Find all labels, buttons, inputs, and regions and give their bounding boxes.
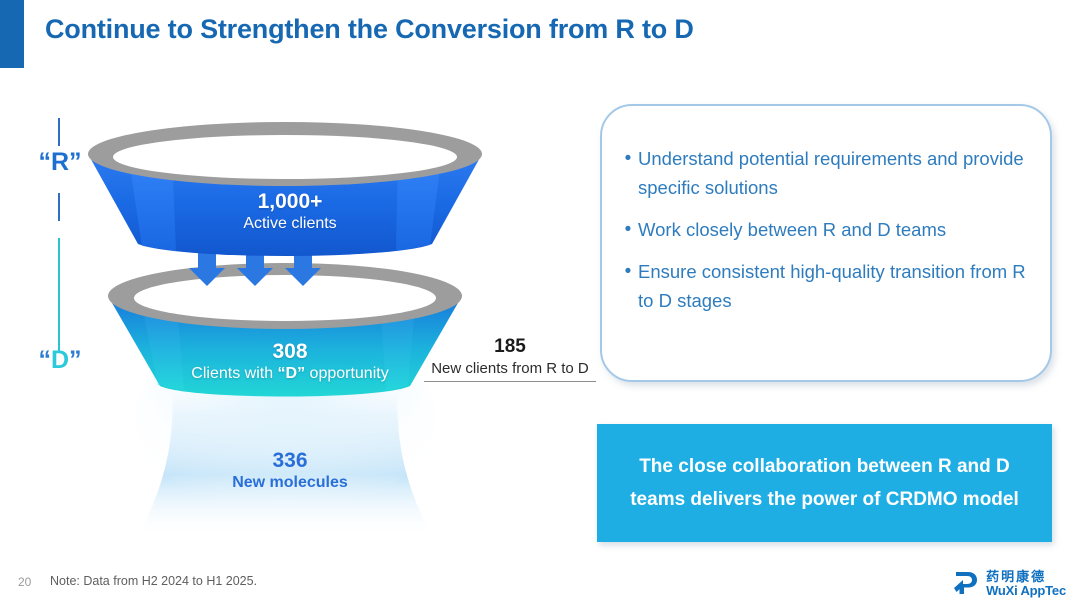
title-accent-bar bbox=[0, 0, 24, 68]
bullet-dot-icon: • bbox=[618, 215, 638, 244]
wuxi-apptec-logo: 药明康德 WuXi AppTec bbox=[951, 566, 1066, 600]
bullet-text: Understand potential requirements and pr… bbox=[638, 144, 1036, 202]
funnel-upper bbox=[88, 122, 482, 256]
bullet-panel: • Understand potential requirements and … bbox=[600, 104, 1052, 382]
axis-label-d-quote-open: “ bbox=[38, 346, 51, 374]
axis-label-d-letter: D bbox=[51, 346, 69, 374]
logo-chinese-text: 药明康德 bbox=[986, 570, 1066, 583]
bullet-list: • Understand potential requirements and … bbox=[618, 144, 1036, 328]
new-clients-value: 185 bbox=[424, 335, 596, 359]
axis-segment-middle bbox=[58, 193, 60, 221]
highlight-banner-text: The close collaboration between R and D … bbox=[615, 450, 1035, 516]
page-number: 20 bbox=[18, 575, 31, 589]
transition-arrows bbox=[189, 252, 321, 286]
slide-root: Continue to Strengthen the Conversion fr… bbox=[0, 0, 1080, 608]
bullet-dot-icon: • bbox=[618, 144, 638, 173]
axis-segment-bottom bbox=[58, 238, 60, 353]
axis-segment-top bbox=[58, 118, 60, 146]
new-clients-caption: New clients from R to D bbox=[424, 359, 596, 379]
highlight-banner: The close collaboration between R and D … bbox=[597, 424, 1052, 542]
logo-wordmark: 药明康德 WuXi AppTec bbox=[986, 570, 1066, 597]
list-item: • Ensure consistent high-quality transit… bbox=[618, 257, 1036, 315]
funnel-graphic bbox=[80, 118, 500, 538]
list-item: • Understand potential requirements and … bbox=[618, 144, 1036, 202]
bullet-text: Work closely between R and D teams bbox=[638, 215, 946, 244]
bullet-text: Ensure consistent high-quality transitio… bbox=[638, 257, 1036, 315]
page-title: Continue to Strengthen the Conversion fr… bbox=[45, 14, 694, 45]
bullet-dot-icon: • bbox=[618, 257, 638, 286]
wuxi-logo-mark-icon bbox=[951, 568, 981, 598]
funnel-diagram: 1,000+ Active clients 308 Clients with “… bbox=[80, 118, 500, 538]
funnel-lower bbox=[108, 263, 462, 397]
footer-note: Note: Data from H2 2024 to H1 2025. bbox=[50, 574, 257, 588]
list-item: • Work closely between R and D teams bbox=[618, 215, 1036, 244]
new-clients-callout: 185 New clients from R to D bbox=[424, 335, 596, 382]
logo-english-text: WuXi AppTec bbox=[986, 584, 1066, 597]
